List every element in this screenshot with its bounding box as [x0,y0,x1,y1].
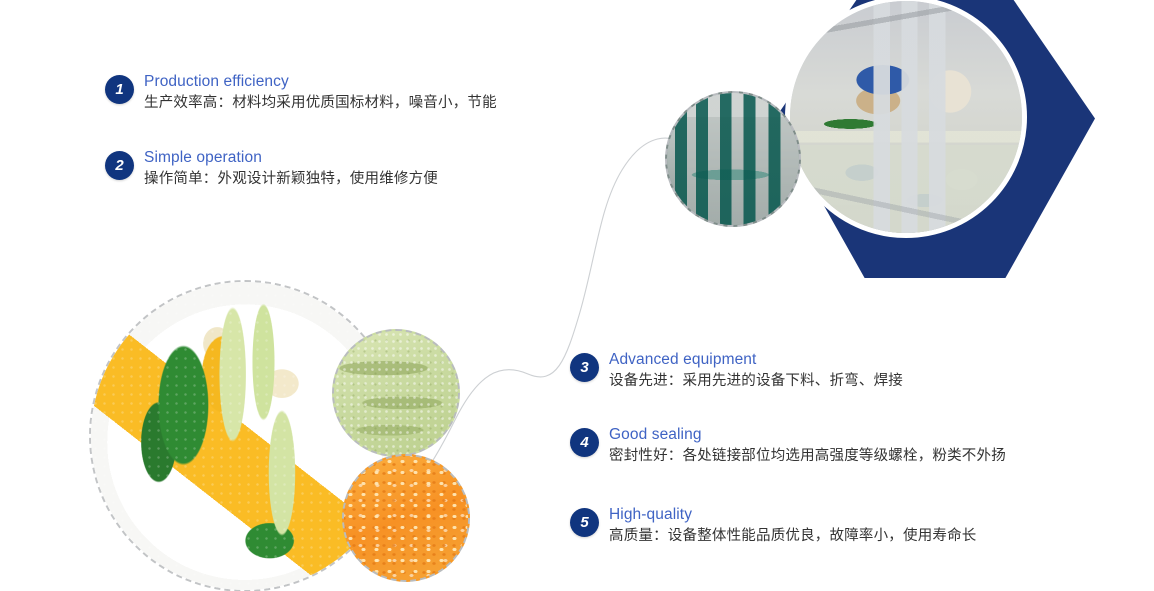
feature-title-en-3: Advanced equipment [609,350,903,370]
feature-text-2: Simple operation 操作简单：外观设计新颖独特，使用维修方便 [144,148,438,190]
feature-text-5: High-quality 高质量：设备整体性能品质优良，故障率小，使用寿命长 [609,505,977,547]
feature-number-badge-1: 1 [105,75,134,104]
corn-grits-photo-circle [342,454,470,582]
feature-title-en-2: Simple operation [144,148,438,168]
feature-item-3: 3 Advanced equipment 设备先进：采用先进的设备下料、折弯、焊… [570,350,903,392]
feature-title-cn-1: 生产效率高：材料均采用优质国标材料，噪音小，节能 [144,92,497,114]
feature-item-5: 5 High-quality 高质量：设备整体性能品质优良，故障率小，使用寿命长 [570,505,977,547]
feature-title-cn-4: 密封性好：各处链接部位均选用高强度等级螺栓，粉类不外扬 [609,445,1006,467]
feature-number-badge-5: 5 [570,508,599,537]
small-photo-circle [665,91,801,227]
feature-title-en-4: Good sealing [609,425,1006,445]
feature-title-en-5: High-quality [609,505,977,525]
green-powder-photo-circle [332,329,460,457]
mill-photo-circle [785,0,1027,238]
feature-text-1: Production efficiency 生产效率高：材料均采用优质国标材料，… [144,72,497,114]
feature-item-2: 2 Simple operation 操作简单：外观设计新颖独特，使用维修方便 [105,148,438,190]
feature-title-cn-5: 高质量：设备整体性能品质优良，故障率小，使用寿命长 [609,525,977,547]
feature-number-badge-2: 2 [105,151,134,180]
feature-text-3: Advanced equipment 设备先进：采用先进的设备下料、折弯、焊接 [609,350,903,392]
feature-item-4: 4 Good sealing 密封性好：各处链接部位均选用高强度等级螺栓，粉类不… [570,425,1006,467]
feature-title-cn-2: 操作简单：外观设计新颖独特，使用维修方便 [144,168,438,190]
flour-mill-machine-photo [790,1,1022,233]
feature-number-badge-3: 3 [570,353,599,382]
feature-item-1: 1 Production efficiency 生产效率高：材料均采用优质国标材… [105,72,497,114]
feature-showcase-page: 1 Production efficiency 生产效率高：材料均采用优质国标材… [0,0,1154,591]
hexagon-photo-group [655,0,1154,278]
grits-texture [344,456,468,580]
green-maize-processing-line-photo [667,93,799,225]
feature-text-4: Good sealing 密封性好：各处链接部位均选用高强度等级螺栓，粉类不外扬 [609,425,1006,467]
powder-texture [334,331,458,455]
feature-number-badge-4: 4 [570,428,599,457]
feature-title-en-1: Production efficiency [144,72,497,92]
feature-title-cn-3: 设备先进：采用先进的设备下料、折弯、焊接 [609,370,903,392]
corn-photo-group [85,278,485,591]
